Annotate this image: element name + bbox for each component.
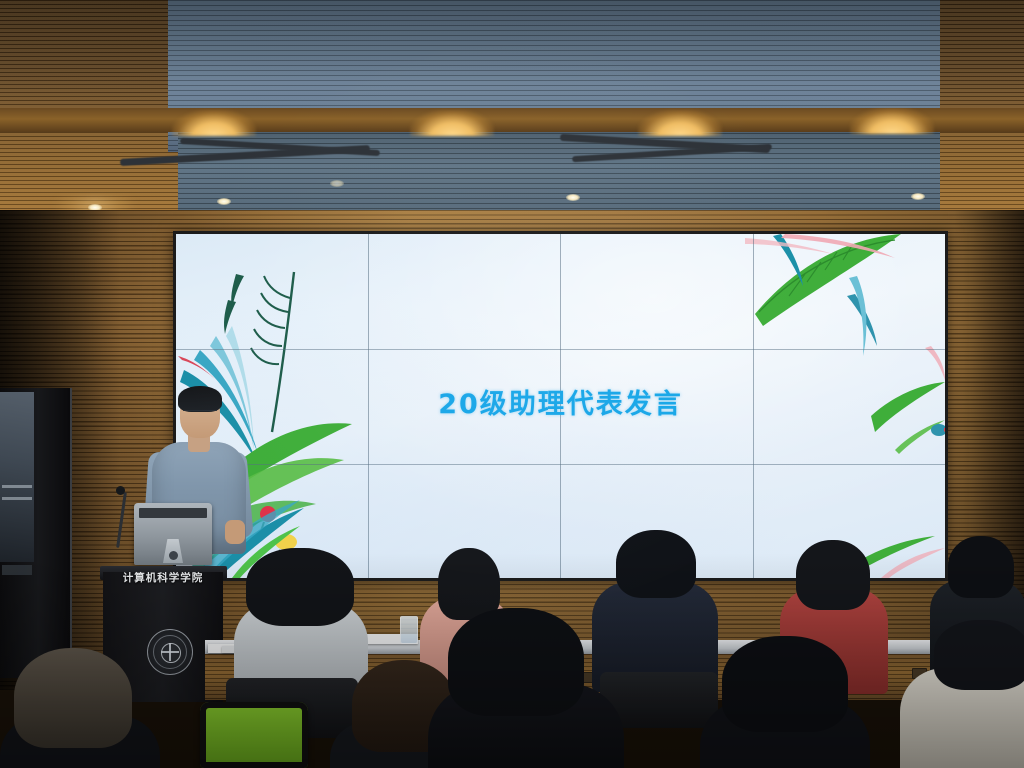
speaker-hand <box>225 520 245 544</box>
photo-scene: 20级助理代表发言 计算机科学学院 <box>0 0 1024 768</box>
downlight-2 <box>217 198 231 205</box>
attendee-hair <box>616 530 696 598</box>
panel-seam-h2 <box>176 464 945 465</box>
microphone-head <box>116 486 125 495</box>
video-wall-screen[interactable]: 20级助理代表发言 <box>176 234 945 578</box>
attendee-hair <box>438 548 500 620</box>
rack-strip-2 <box>2 497 32 500</box>
chair-green[interactable] <box>200 702 308 768</box>
attendee-hair <box>796 540 870 610</box>
slide-decoration-right <box>745 234 945 454</box>
speaker-glasses <box>183 410 217 418</box>
water-glass <box>400 616 418 644</box>
slide-decoration-small-mark <box>931 422 945 438</box>
downlight-4 <box>911 193 925 200</box>
ceiling-light-1 <box>172 110 256 136</box>
downlight-5 <box>330 180 344 187</box>
attendee-hair <box>246 548 354 626</box>
attendee-hair <box>948 536 1014 598</box>
podium-label: 计算机科学学院 <box>103 570 223 585</box>
attendee-hair <box>722 636 848 732</box>
slide-title: 20级助理代表发言 <box>176 382 945 421</box>
ceiling-light-4 <box>850 108 934 134</box>
panel-seam-h1 <box>176 349 945 350</box>
equipment-rack-panel <box>0 392 34 562</box>
university-seal-icon <box>147 629 193 675</box>
attendee-hair <box>934 620 1024 690</box>
attendee-hair <box>448 608 584 716</box>
rack-strip-3 <box>2 565 32 575</box>
ceiling <box>0 0 1024 232</box>
podium-monitor-screen <box>139 508 207 518</box>
attendee-hair <box>14 648 132 748</box>
rack-strip-1 <box>2 485 32 488</box>
downlight-3 <box>566 194 580 201</box>
university-seal-core <box>161 643 181 663</box>
podium-monitor-button[interactable] <box>169 551 178 560</box>
ceiling-light-3 <box>638 110 722 136</box>
speaker-hair <box>178 386 222 412</box>
ceiling-light-2 <box>410 110 494 136</box>
podium-monitor[interactable] <box>134 503 212 565</box>
